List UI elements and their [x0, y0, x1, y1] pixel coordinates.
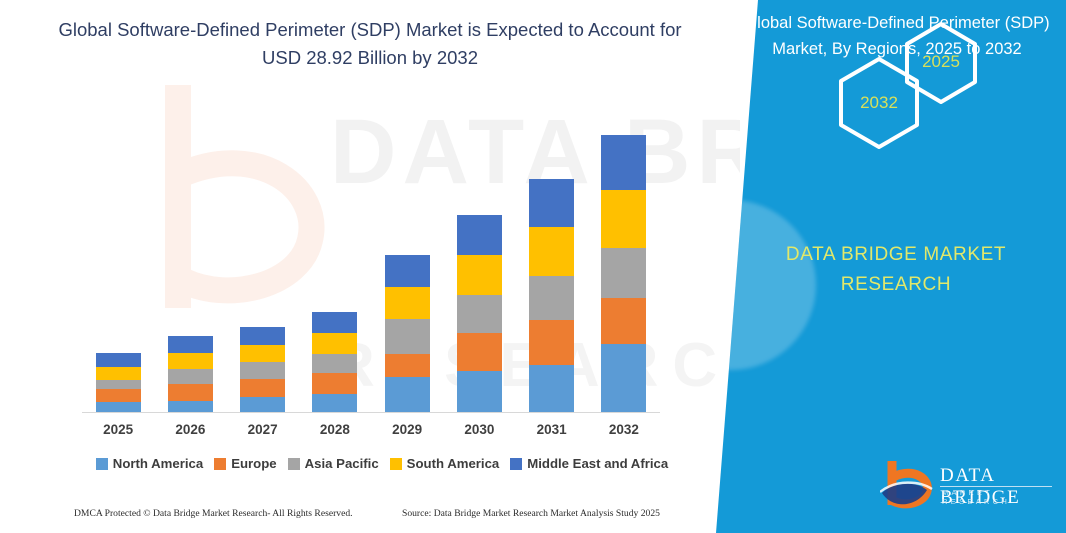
legend-label: North America [113, 456, 203, 471]
bar-segment [385, 319, 430, 353]
bar-segment [529, 276, 574, 320]
bar-segment [601, 344, 646, 413]
bar-segment [96, 367, 141, 380]
bar-segment [457, 255, 502, 295]
bar-segment [601, 248, 646, 298]
legend-swatch-icon [96, 458, 108, 470]
bar-2026 [168, 336, 213, 413]
legend-swatch-icon [390, 458, 402, 470]
logo-tagline: MARKET RESEARCH [942, 488, 1055, 506]
chart-legend: North AmericaEuropeAsia PacificSouth Ame… [82, 456, 682, 471]
page-title: Global Software-Defined Perimeter (SDP) … [40, 16, 700, 72]
bar-segment [168, 384, 213, 401]
bar-2027 [240, 327, 285, 413]
x-tick-2032: 2032 [589, 422, 659, 437]
legend-swatch-icon [288, 458, 300, 470]
bar-segment [385, 287, 430, 319]
bar-segment [312, 333, 357, 353]
bar-2028 [312, 312, 357, 413]
bar-segment [457, 295, 502, 333]
plot-area [82, 100, 660, 413]
x-axis-line [82, 412, 660, 413]
bar-segment [529, 320, 574, 364]
bar-segment [240, 362, 285, 379]
bar-2025 [96, 353, 141, 413]
bar-segment [312, 354, 357, 373]
bar-2032 [601, 135, 646, 413]
data-bridge-logo: DATA BRIDGE MARKET RESEARCH [880, 455, 1055, 517]
bar-segment [529, 227, 574, 276]
brand-panel: Global Software-Defined Perimeter (SDP) … [716, 0, 1066, 533]
x-tick-2029: 2029 [372, 422, 442, 437]
bar-segment [96, 353, 141, 367]
x-tick-2025: 2025 [83, 422, 153, 437]
x-axis-labels: 20252026202720282029203020312032 [82, 422, 660, 446]
bar-2030 [457, 215, 502, 413]
bar-segment [457, 215, 502, 255]
hexagon-2025-label: 2025 [901, 52, 981, 72]
brand-name-text: DATA BRIDGE MARKET RESEARCH [741, 240, 1051, 300]
bar-segment [601, 135, 646, 190]
legend-swatch-icon [510, 458, 522, 470]
infographic-root: DATA BRIDGE RESEARCH Global Software-Def… [0, 0, 1066, 533]
legend-label: Middle East and Africa [527, 456, 668, 471]
bar-segment [529, 365, 574, 413]
hexagon-2025: 2025 [901, 20, 981, 106]
bar-segment [529, 179, 574, 226]
footer-source: Source: Data Bridge Market Research Mark… [402, 508, 660, 519]
bar-segment [385, 354, 430, 377]
legend-label: Europe [231, 456, 276, 471]
legend-item[interactable]: North America [96, 456, 203, 471]
bar-segment [240, 345, 285, 362]
bar-segment [312, 373, 357, 394]
bar-segment [457, 371, 502, 413]
x-tick-2030: 2030 [444, 422, 514, 437]
bar-2029 [385, 255, 430, 413]
bar-segment [240, 327, 285, 345]
bar-2031 [529, 179, 574, 413]
bar-segment [312, 394, 357, 413]
x-tick-2031: 2031 [517, 422, 587, 437]
chart-panel: DATA BRIDGE RESEARCH Global Software-Def… [0, 0, 740, 533]
legend-label: South America [407, 456, 500, 471]
bar-segment [168, 369, 213, 384]
x-tick-2026: 2026 [155, 422, 225, 437]
bar-segment [96, 389, 141, 402]
bar-segment [601, 298, 646, 343]
x-tick-2028: 2028 [300, 422, 370, 437]
bar-segment [168, 353, 213, 369]
footer-copyright: DMCA Protected © Data Bridge Market Rese… [74, 508, 353, 519]
bar-segment [96, 380, 141, 389]
bar-segment [601, 190, 646, 247]
bar-segment [385, 255, 430, 287]
data-bridge-b-logo-icon [880, 459, 936, 513]
bar-segment [385, 377, 430, 413]
legend-swatch-icon [214, 458, 226, 470]
bar-segment [457, 333, 502, 370]
legend-item[interactable]: South America [390, 456, 500, 471]
legend-item[interactable]: Europe [214, 456, 276, 471]
legend-label: Asia Pacific [305, 456, 379, 471]
bar-segment [240, 379, 285, 397]
bar-segment [240, 397, 285, 413]
bar-segment [168, 336, 213, 353]
bar-segment [312, 312, 357, 333]
legend-item[interactable]: Middle East and Africa [510, 456, 668, 471]
logo-divider [940, 486, 1052, 487]
legend-item[interactable]: Asia Pacific [288, 456, 379, 471]
x-tick-2027: 2027 [228, 422, 298, 437]
